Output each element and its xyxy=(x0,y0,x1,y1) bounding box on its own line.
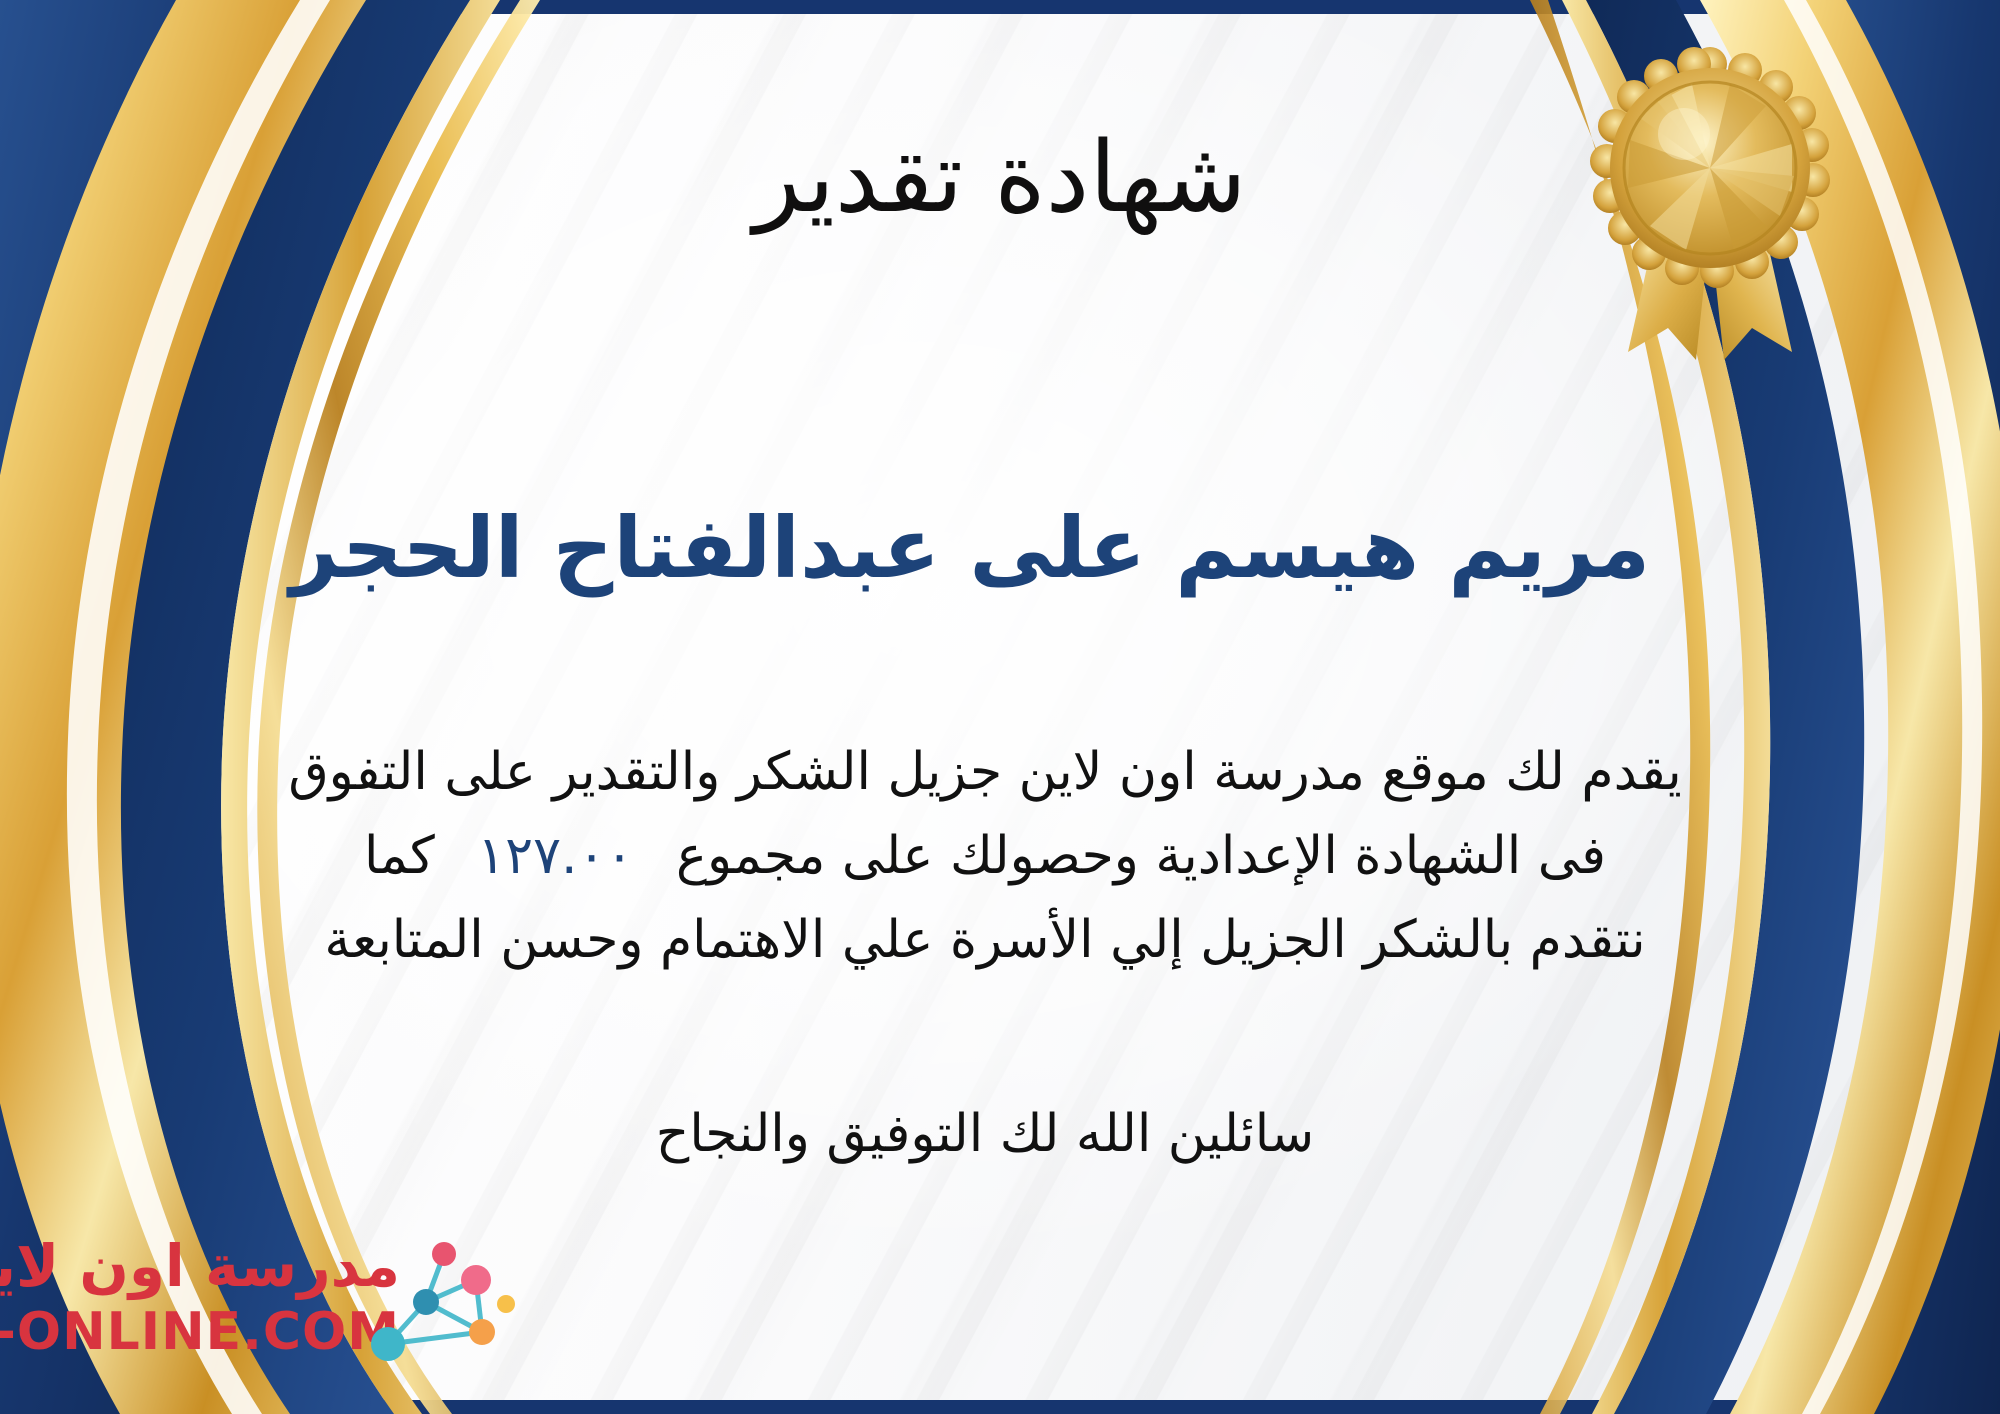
body-line-2: فى الشهادة الإعدادية وحصولك على مجموع ١٢… xyxy=(60,814,1910,898)
body-line-2-prefix: فى الشهادة الإعدادية وحصولك على مجموع xyxy=(676,826,1606,886)
body-line-3: نتقدم بالشكر الجزيل إلي الأسرة علي الاهت… xyxy=(60,898,1910,982)
brand-website-url: MADRSA-ONLINE.COM xyxy=(0,1302,400,1362)
total-score-value: ١٢٧.٠٠ xyxy=(451,826,659,886)
brand-logo[interactable]: مدرسة اون لاين MADRSA-ONLINE.COM xyxy=(30,1230,550,1380)
page-title: شهادة تقدير xyxy=(0,125,2000,233)
certificate-body: يقدم لك موقع مدرسة اون لاين جزيل الشكر و… xyxy=(60,730,1910,983)
body-line-2-suffix: كما xyxy=(364,826,435,886)
body-line-1: يقدم لك موقع مدرسة اون لاين جزيل الشكر و… xyxy=(60,730,1910,814)
network-nodes-icon xyxy=(348,1236,538,1376)
certificate-page: شهادة تقدير مريم هيسم على عبدالفتاح الحج… xyxy=(0,0,2000,1414)
brand-arabic-name: مدرسة اون لاين xyxy=(0,1232,400,1300)
student-name: مريم هيسم على عبدالفتاح الحجر xyxy=(90,500,1850,597)
closing-wish: سائلين الله لك التوفيق والنجاح xyxy=(60,1095,1910,1173)
